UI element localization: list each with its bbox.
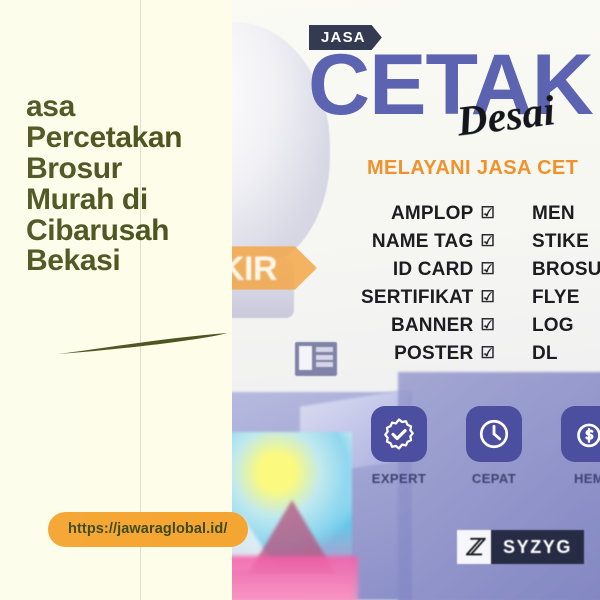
service-label: SERTIFIKAT xyxy=(361,287,473,309)
website-url-badge[interactable]: https://jawaraglobal.id/ xyxy=(48,512,248,547)
service-label: FLYE xyxy=(532,287,580,309)
service-label: BROSU xyxy=(532,259,600,281)
service-label: DL xyxy=(532,343,558,365)
service-item: BROSU xyxy=(532,256,600,284)
feature-badges: EXPERT CEPAT HEM xyxy=(364,406,600,486)
headline-line: asa xyxy=(26,92,226,123)
brand-logo: ℤ SYZYG xyxy=(457,530,584,564)
headline-line: Cibarusah xyxy=(26,216,226,247)
service-item: NAME TAG ☑ xyxy=(330,228,495,256)
service-item: ID CARD ☑ xyxy=(330,256,495,284)
service-label: NAME TAG xyxy=(372,231,474,253)
service-item: STIKE xyxy=(532,228,600,256)
checkbox-icon: ☑ xyxy=(480,290,495,306)
service-item: BANNER ☑ xyxy=(330,312,495,340)
feature-badge: EXPERT xyxy=(364,406,434,486)
vertical-divider xyxy=(140,0,141,600)
poster-script-word: Desai xyxy=(454,87,557,147)
poster-subtitle: MELAYANI JASA CET xyxy=(367,157,578,180)
checkbox-icon: ☑ xyxy=(480,234,495,250)
feature-badge: CEPAT xyxy=(459,406,529,486)
feature-badge-label: EXPERT xyxy=(364,471,434,486)
services-list-left: AMPLOP ☑ NAME TAG ☑ ID CARD ☑ SERTIFIKAT… xyxy=(330,200,495,368)
service-label: AMPLOP xyxy=(391,203,473,225)
service-item: FLYE xyxy=(532,284,600,312)
money-icon xyxy=(561,406,600,462)
service-label: LOG xyxy=(532,315,574,337)
service-item: SERTIFIKAT ☑ xyxy=(330,284,495,312)
service-item: POSTER ☑ xyxy=(330,340,495,368)
jasa-tag-badge: JASA xyxy=(309,25,382,50)
service-label: BANNER xyxy=(391,315,473,337)
logo-monogram-icon: ℤ xyxy=(457,530,491,564)
checkbox-icon: ☑ xyxy=(480,262,495,278)
clock-icon xyxy=(466,406,522,462)
services-list-right: MEN STIKE BROSU FLYE LOG DL xyxy=(532,200,600,368)
service-item: AMPLOP ☑ xyxy=(330,200,495,228)
service-label: MEN xyxy=(532,203,575,225)
service-label: ID CARD xyxy=(393,259,474,281)
photo-foreground-graphic xyxy=(212,556,358,600)
checkbox-icon: ☑ xyxy=(480,206,495,222)
service-item: LOG xyxy=(532,312,600,340)
underline-brushstroke xyxy=(57,330,229,356)
service-label: STIKE xyxy=(532,231,589,253)
headline-line: Percetakan xyxy=(26,123,226,154)
headline-line: Bekasi xyxy=(26,246,226,277)
verified-badge-icon xyxy=(371,406,427,462)
logo-wordmark: SYZYG xyxy=(491,530,584,564)
feature-badge-label: HEM xyxy=(554,471,600,486)
service-item: DL xyxy=(532,340,600,368)
checkbox-icon: ☑ xyxy=(480,318,495,334)
service-label: POSTER xyxy=(394,343,473,365)
service-item: MEN xyxy=(532,200,600,228)
checkbox-icon: ☑ xyxy=(480,346,495,362)
feature-badge: HEM xyxy=(554,406,600,486)
screenshot-canvas: JASA CETAK Desai MELAYANI JASA CET KIR A… xyxy=(0,0,600,600)
page-title: asa Percetakan Brosur Murah di Cibarusah… xyxy=(26,92,226,277)
headline-line: Brosur xyxy=(26,154,226,185)
feature-badge-label: CEPAT xyxy=(459,471,529,486)
poster-image: JASA CETAK Desai MELAYANI JASA CET KIR A… xyxy=(212,0,600,600)
headline-line: Murah di xyxy=(26,185,226,216)
